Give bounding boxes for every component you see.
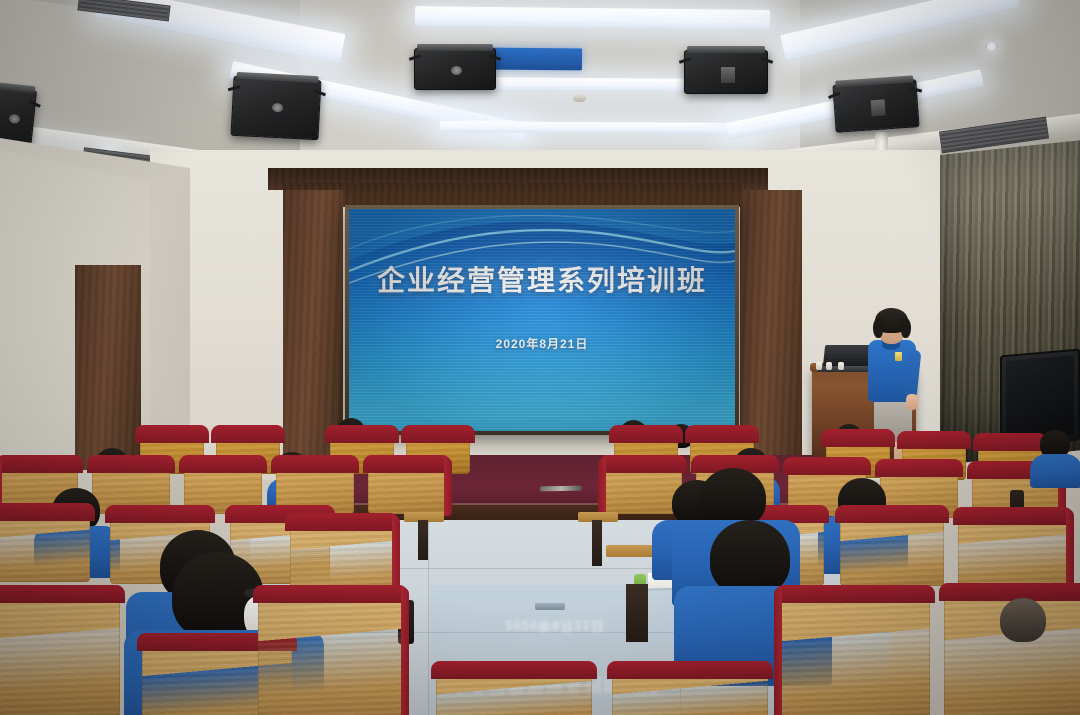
seat[interactable] [0, 592, 120, 715]
presenter-hair-side [901, 318, 911, 338]
seat[interactable] [368, 462, 446, 514]
stage-floor-object [540, 486, 582, 492]
presenter-hand [906, 394, 918, 410]
training-room-photo: 企业经营管理系列培训班 2020年8月21日 2020 [0, 0, 1080, 715]
seat[interactable] [612, 668, 768, 715]
side-desk-leg [626, 584, 648, 642]
ceiling-downlight-icon [985, 42, 998, 51]
projection-screen-frame: 企业经营管理系列培训班 2020年8月21日 [345, 205, 739, 435]
smoke-detector-icon [573, 93, 586, 102]
projection-screen: 企业经营管理系列培训班 2020年8月21日 [349, 209, 735, 431]
podium-microphone-icon [816, 362, 822, 370]
presenter-hair-side [873, 318, 883, 338]
ceiling-light-strip [440, 121, 750, 134]
ceiling-speaker-icon [832, 79, 919, 133]
seat[interactable] [436, 668, 592, 715]
ceiling-speaker-icon [414, 48, 496, 90]
wood-header-band [283, 183, 743, 207]
seat[interactable] [0, 510, 90, 582]
wood-wall-column-right [740, 190, 802, 465]
ceiling-speaker-icon [684, 50, 768, 94]
ceiling-light-strip [415, 6, 770, 30]
podium-microphone-icon [826, 362, 832, 370]
screen-date: 2020年8月21日 [349, 335, 735, 352]
seat[interactable] [840, 512, 944, 586]
seat[interactable] [780, 592, 930, 715]
ceiling-blue-panel [492, 48, 582, 71]
ceiling-speaker-icon [230, 76, 321, 141]
seat[interactable] [958, 514, 1068, 590]
podium-water-cup-icon [838, 362, 844, 370]
side-desk-leg [418, 520, 428, 560]
seat[interactable] [604, 462, 682, 514]
screen-title: 企业经营管理系列培训班 [349, 259, 735, 299]
floor-marker [535, 603, 565, 610]
presenter-badge [895, 352, 902, 361]
seat[interactable] [258, 592, 403, 715]
side-desk-leg [592, 520, 602, 566]
side-door[interactable] [75, 265, 141, 470]
